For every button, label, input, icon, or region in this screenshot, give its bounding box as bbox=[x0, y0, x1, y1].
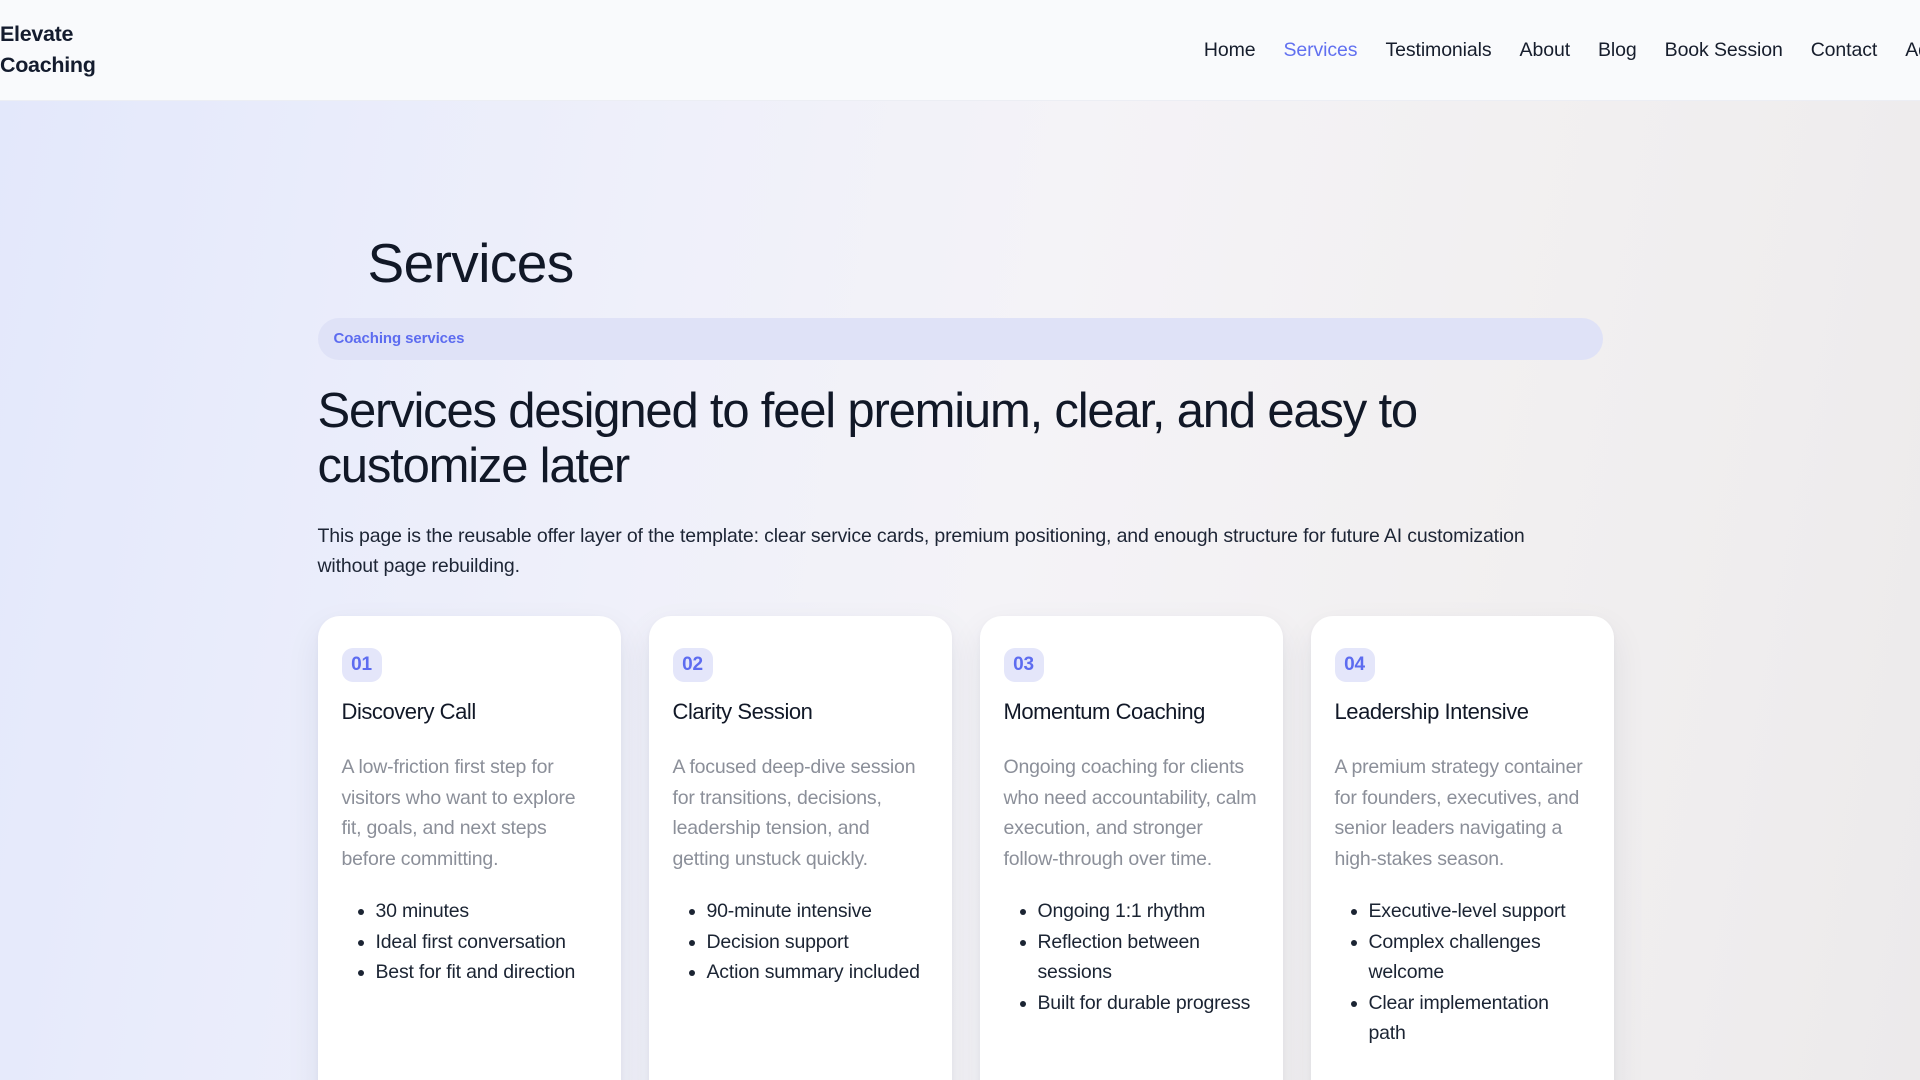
nav-item-testimonials[interactable]: Testimonials bbox=[1385, 37, 1491, 63]
card-description: A premium strategy container for founder… bbox=[1335, 752, 1590, 874]
page-root: Elevate Coaching Home Services Testimoni… bbox=[0, 0, 1920, 1080]
list-item: Decision support bbox=[707, 927, 928, 958]
nav-item-contact[interactable]: Contact bbox=[1811, 37, 1878, 63]
nav-item-home[interactable]: Home bbox=[1204, 37, 1256, 63]
card-title: Clarity Session bbox=[673, 698, 928, 726]
nav-item-about[interactable]: About bbox=[1520, 37, 1570, 63]
card-feature-list: Ongoing 1:1 rhythm Reflection between se… bbox=[1004, 896, 1259, 1018]
card-number-badge: 01 bbox=[342, 648, 382, 682]
list-item: Ongoing 1:1 rhythm bbox=[1038, 896, 1259, 927]
list-item: Best for fit and direction bbox=[376, 957, 597, 988]
service-card[interactable]: 03 Momentum Coaching Ongoing coaching fo… bbox=[980, 616, 1283, 1080]
nav-item-admin[interactable]: Admin bbox=[1905, 37, 1920, 63]
card-feature-list: 30 minutes Ideal first conversation Best… bbox=[342, 896, 597, 988]
list-item: Reflection between sessions bbox=[1038, 927, 1259, 988]
hero-subtext: This page is the reusable offer layer of… bbox=[318, 521, 1583, 581]
list-item: Ideal first conversation bbox=[376, 927, 597, 958]
card-description: Ongoing coaching for clients who need ac… bbox=[1004, 752, 1259, 874]
card-feature-list: 90-minute intensive Decision support Act… bbox=[673, 896, 928, 988]
list-item: 30 minutes bbox=[376, 896, 597, 927]
nav-item-blog[interactable]: Blog bbox=[1598, 37, 1637, 63]
status-badge: Coaching services bbox=[318, 318, 1603, 360]
list-item: Built for durable progress bbox=[1038, 988, 1259, 1019]
brand-logo[interactable]: Elevate Coaching bbox=[0, 19, 118, 81]
card-title: Discovery Call bbox=[342, 698, 597, 726]
list-item: Clear implementation path bbox=[1369, 988, 1590, 1049]
card-feature-list: Executive-level support Complex challeng… bbox=[1335, 896, 1590, 1049]
card-title: Leadership Intensive bbox=[1335, 698, 1590, 726]
list-item: Complex challenges welcome bbox=[1369, 927, 1590, 988]
list-item: Action summary included bbox=[707, 957, 928, 988]
card-number-badge: 04 bbox=[1335, 648, 1375, 682]
service-card[interactable]: 02 Clarity Session A focused deep-dive s… bbox=[649, 616, 952, 1080]
card-description: A focused deep-dive session for transiti… bbox=[673, 752, 928, 874]
main-nav: Home Services Testimonials About Blog Bo… bbox=[1204, 37, 1920, 63]
card-number-badge: 03 bbox=[1004, 648, 1044, 682]
page-title: Services bbox=[368, 232, 1603, 294]
site-header: Elevate Coaching Home Services Testimoni… bbox=[0, 0, 1920, 101]
list-item: 90-minute intensive bbox=[707, 896, 928, 927]
service-card[interactable]: 04 Leadership Intensive A premium strate… bbox=[1311, 616, 1614, 1080]
list-item: Executive-level support bbox=[1369, 896, 1590, 927]
hero-content: Services Coaching services Services desi… bbox=[318, 101, 1603, 1080]
nav-item-services[interactable]: Services bbox=[1283, 37, 1357, 63]
hero-section: Services Coaching services Services desi… bbox=[0, 101, 1920, 1080]
service-card[interactable]: 01 Discovery Call A low-friction first s… bbox=[318, 616, 621, 1080]
service-cards-grid: 01 Discovery Call A low-friction first s… bbox=[318, 616, 1603, 1080]
card-number-badge: 02 bbox=[673, 648, 713, 682]
card-description: A low-friction first step for visitors w… bbox=[342, 752, 597, 874]
nav-item-book-session[interactable]: Book Session bbox=[1665, 37, 1783, 63]
hero-heading: Services designed to feel premium, clear… bbox=[318, 384, 1418, 494]
card-title: Momentum Coaching bbox=[1004, 698, 1259, 726]
